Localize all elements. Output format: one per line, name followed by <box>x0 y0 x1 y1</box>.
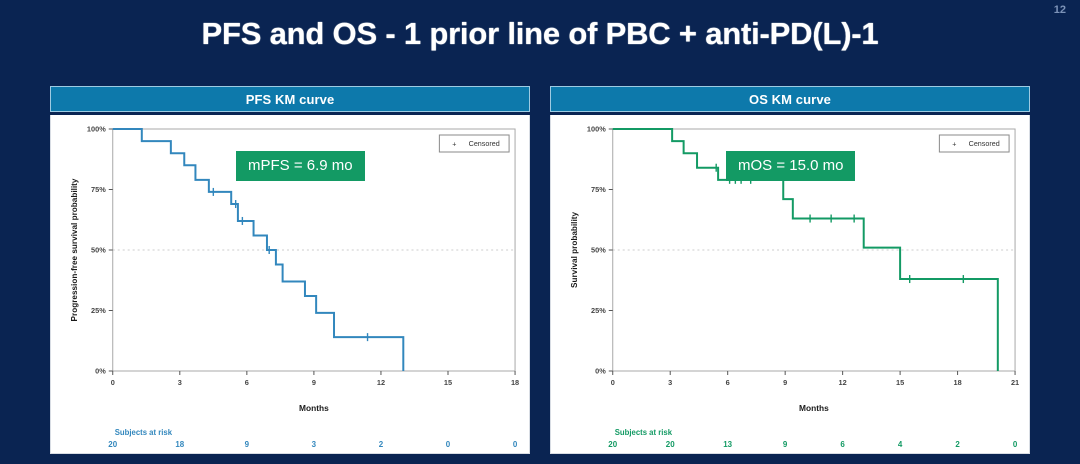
page-title: PFS and OS - 1 prior line of PBC + anti-… <box>0 16 1080 52</box>
svg-text:Months: Months <box>799 403 829 413</box>
svg-text:2: 2 <box>955 440 960 449</box>
svg-text:15: 15 <box>896 378 904 387</box>
svg-text:Subjects at risk: Subjects at risk <box>615 428 673 437</box>
svg-text:9: 9 <box>245 440 250 449</box>
svg-text:+: + <box>952 140 956 148</box>
svg-text:2: 2 <box>379 440 384 449</box>
svg-text:Months: Months <box>299 403 329 413</box>
svg-text:+: + <box>452 140 456 148</box>
svg-text:75%: 75% <box>91 185 106 194</box>
svg-text:Censored: Censored <box>469 140 500 148</box>
svg-text:75%: 75% <box>591 185 606 194</box>
svg-text:50%: 50% <box>91 246 106 255</box>
svg-text:25%: 25% <box>591 306 606 315</box>
svg-text:0%: 0% <box>595 367 606 376</box>
svg-text:0: 0 <box>446 440 451 449</box>
panel-body-os: 0%25%50%75%100%036912151821Survival prob… <box>550 115 1030 454</box>
panel-pfs: PFS KM curve 0%25%50%75%100%0369121518Pr… <box>50 86 530 454</box>
svg-text:12: 12 <box>377 378 385 387</box>
svg-text:6: 6 <box>726 378 730 387</box>
svg-text:9: 9 <box>312 378 316 387</box>
svg-text:15: 15 <box>444 378 452 387</box>
median-badge-pfs: mPFS = 6.9 mo <box>236 151 365 181</box>
svg-text:18: 18 <box>953 378 961 387</box>
charts-container: PFS KM curve 0%25%50%75%100%0369121518Pr… <box>50 86 1030 454</box>
svg-text:21: 21 <box>1011 378 1019 387</box>
svg-text:3: 3 <box>312 440 317 449</box>
svg-text:Subjects at risk: Subjects at risk <box>115 428 173 437</box>
svg-text:25%: 25% <box>91 306 106 315</box>
svg-text:Censored: Censored <box>969 140 1000 148</box>
svg-text:18: 18 <box>511 378 519 387</box>
svg-text:0: 0 <box>513 440 518 449</box>
svg-text:50%: 50% <box>591 246 606 255</box>
svg-text:3: 3 <box>668 378 672 387</box>
panel-header-os: OS KM curve <box>550 86 1030 112</box>
svg-text:100%: 100% <box>87 125 106 134</box>
panel-header-pfs: PFS KM curve <box>50 86 530 112</box>
svg-text:9: 9 <box>783 378 787 387</box>
svg-text:12: 12 <box>839 378 847 387</box>
slide-root: 12 PFS and OS - 1 prior line of PBC + an… <box>0 0 1080 464</box>
svg-text:6: 6 <box>245 378 249 387</box>
svg-text:Survival probability: Survival probability <box>570 212 579 288</box>
svg-text:0: 0 <box>611 378 615 387</box>
svg-text:0: 0 <box>1013 440 1018 449</box>
svg-text:20: 20 <box>666 440 675 449</box>
svg-text:13: 13 <box>723 440 732 449</box>
svg-text:18: 18 <box>175 440 184 449</box>
svg-text:6: 6 <box>840 440 845 449</box>
svg-text:9: 9 <box>783 440 788 449</box>
page-number: 12 <box>1054 4 1066 16</box>
median-badge-os: mOS = 15.0 mo <box>726 151 855 181</box>
svg-text:Progression-free survival prob: Progression-free survival probability <box>70 178 79 321</box>
svg-text:100%: 100% <box>587 125 606 134</box>
svg-text:20: 20 <box>608 440 617 449</box>
panel-body-pfs: 0%25%50%75%100%0369121518Progression-fre… <box>50 115 530 454</box>
panel-os: OS KM curve 0%25%50%75%100%036912151821S… <box>550 86 1030 454</box>
svg-text:3: 3 <box>178 378 182 387</box>
svg-text:0: 0 <box>111 378 115 387</box>
svg-text:20: 20 <box>108 440 117 449</box>
svg-text:0%: 0% <box>95 367 106 376</box>
svg-text:4: 4 <box>898 440 903 449</box>
